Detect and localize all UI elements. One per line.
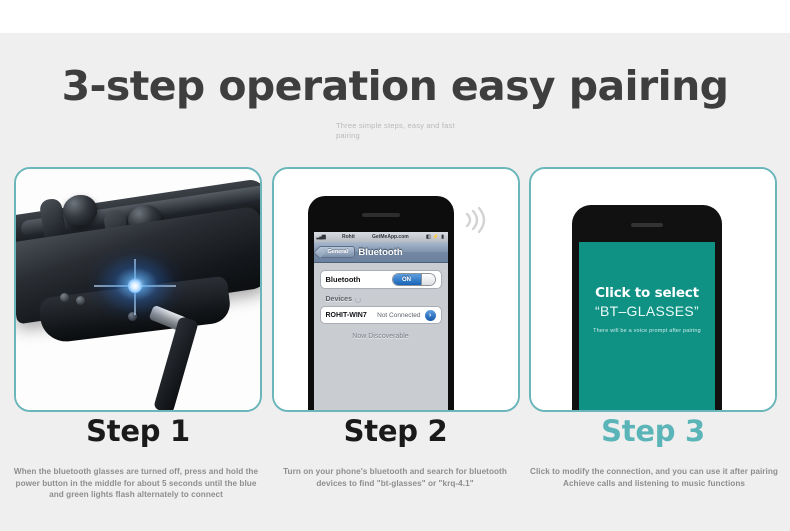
page-subtitle: Three simple steps, easy and fast pairin… (336, 121, 466, 141)
promo-page: 3-step operation easy pairing Three simp… (0, 0, 790, 531)
signal-bars-icon: ▂▄▆ (317, 234, 325, 240)
select-instruction-line2: “BT–GLASSES” (579, 303, 715, 319)
bluetooth-toggle-switch[interactable]: ON (392, 273, 436, 286)
device-temple-arm (153, 316, 199, 412)
carrier-label: Rohit (342, 234, 355, 240)
bluetooth-glasses-photo (16, 169, 260, 410)
device-status: Not Connected (377, 312, 420, 319)
step-3-card[interactable]: Click to select “BT–GLASSES” There will … (529, 167, 777, 412)
ios-settings-body: Bluetooth ON Devices (314, 263, 448, 340)
phone-pairing-prompt-photo: Click to select “BT–GLASSES” There will … (531, 169, 775, 410)
battery-icon: ◧ ⚡ ▮ (426, 234, 444, 240)
phone-earpiece-speaker (631, 223, 663, 227)
step-1-label: Step 1 (14, 414, 262, 448)
select-instruction-line1: Click to select (579, 285, 715, 301)
step-2-caption: Turn on your phone's bluetooth and searc… (267, 466, 523, 501)
caption-row: When the bluetooth glasses are turned of… (8, 466, 782, 501)
ios-status-bar: ▂▄▆ Rohit GetMeApp.com ◧ ⚡ ▮ (314, 232, 448, 242)
device-name: ROHIT-WIN7 (326, 312, 367, 319)
steps-card-row: ▂▄▆ Rohit GetMeApp.com ◧ ⚡ ▮ General Blu… (14, 167, 777, 412)
step-3-caption: Click to modify the connection, and you … (526, 466, 782, 501)
step-3-label: Step 3 (529, 414, 777, 448)
phone-device-frame: ▂▄▆ Rohit GetMeApp.com ◧ ⚡ ▮ General Blu… (308, 196, 454, 412)
device-list-item[interactable]: ROHIT-WIN7 Not Connected › (320, 306, 442, 324)
toggle-on-label: ON (393, 274, 421, 285)
device-screw (128, 312, 137, 321)
bluetooth-toggle-row[interactable]: Bluetooth ON (320, 270, 442, 289)
phone-screen[interactable]: Click to select “BT–GLASSES” There will … (579, 242, 715, 412)
bluetooth-label: Bluetooth (326, 275, 361, 284)
step-2-card[interactable]: ▂▄▆ Rohit GetMeApp.com ◧ ⚡ ▮ General Blu… (272, 167, 520, 412)
phone-device-frame: Click to select “BT–GLASSES” There will … (572, 205, 722, 412)
phone-earpiece-speaker (362, 213, 400, 217)
status-site-label: GetMeApp.com (372, 234, 409, 240)
device-screw (76, 296, 85, 305)
blue-led-icon (128, 279, 142, 293)
detail-disclosure-icon[interactable]: › (425, 310, 436, 321)
ios-nav-bar: General Bluetooth (314, 242, 448, 263)
discoverable-status: Now Discoverable (320, 333, 442, 340)
nav-title: Bluetooth (314, 247, 448, 258)
step-label-row: Step 1 Step 2 Step 3 (14, 414, 777, 448)
broadcast-wave-icon (461, 205, 487, 235)
toggle-handle[interactable] (421, 274, 435, 285)
step-1-card[interactable] (14, 167, 262, 412)
phone-screen: ▂▄▆ Rohit GetMeApp.com ◧ ⚡ ▮ General Blu… (314, 232, 448, 412)
phone-bluetooth-settings-photo: ▂▄▆ Rohit GetMeApp.com ◧ ⚡ ▮ General Blu… (274, 169, 518, 410)
device-screw (60, 293, 69, 302)
devices-label-text: Devices (326, 296, 352, 303)
voice-prompt-note: There will be a voice prompt after pairi… (579, 328, 715, 334)
devices-section-label: Devices (326, 296, 442, 303)
top-white-band (0, 0, 790, 33)
page-title: 3-step operation easy pairing (0, 62, 790, 110)
step-2-label: Step 2 (272, 414, 520, 448)
loading-spinner-icon (355, 297, 361, 303)
step-1-caption: When the bluetooth glasses are turned of… (8, 466, 264, 501)
